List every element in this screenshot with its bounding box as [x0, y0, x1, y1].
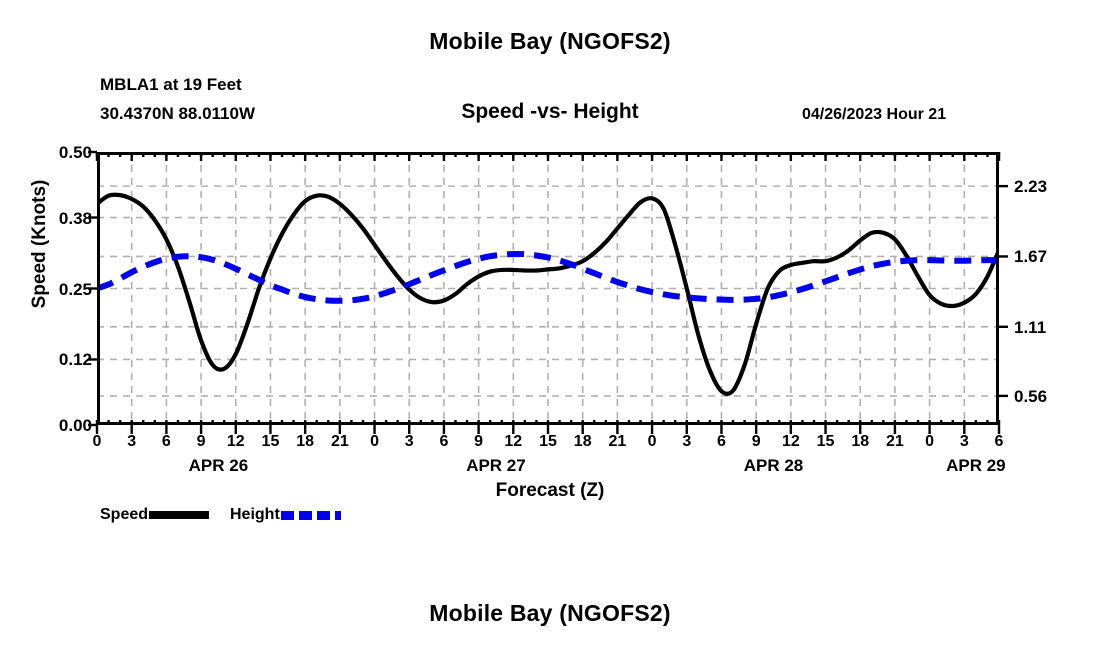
x-tick: 0 [925, 433, 934, 451]
x-tick: 15 [539, 433, 557, 451]
x-tick: 21 [331, 433, 349, 451]
day-label: APR 28 [744, 456, 804, 476]
y-axis-left-label: Speed (Knots) [29, 144, 51, 344]
x-tick: 21 [886, 433, 904, 451]
x-tick: 9 [752, 433, 761, 451]
y-tick-right: 0.56 [1014, 387, 1100, 407]
x-tick: 9 [474, 433, 483, 451]
day-label: APR 26 [189, 456, 249, 476]
x-tick: 0 [93, 433, 102, 451]
x-tick: 0 [370, 433, 379, 451]
x-axis-label: Forecast (Z) [0, 480, 1100, 502]
x-tick: 3 [682, 433, 691, 451]
page-title: Mobile Bay (NGOFS2) [0, 28, 1100, 55]
model-run-label: 04/26/2023 Hour 21 [802, 106, 946, 124]
x-tick: 12 [782, 433, 800, 451]
legend-item-speed: Speed [100, 506, 209, 524]
plot-frame [97, 152, 999, 425]
y-tick-right: 2.23 [1014, 177, 1100, 197]
legend-swatch-speed-line [149, 511, 209, 519]
plot-area [97, 152, 999, 425]
y-tick-left: 0.38 [0, 209, 92, 229]
x-tick: 12 [227, 433, 245, 451]
y-tick-left: 0.50 [0, 143, 92, 163]
x-tick: 6 [717, 433, 726, 451]
x-tick: 12 [504, 433, 522, 451]
y-tick-left: 0.25 [0, 280, 92, 300]
x-tick: 21 [608, 433, 626, 451]
x-tick: 18 [851, 433, 869, 451]
legend-item-height: Height [230, 506, 341, 524]
x-tick: 15 [262, 433, 280, 451]
x-tick: 3 [960, 433, 969, 451]
x-tick: 18 [574, 433, 592, 451]
y-tick-right: 1.11 [1014, 318, 1100, 338]
legend-label-height: Height [230, 506, 280, 524]
chart-page: Mobile Bay (NGOFS2) MBLA1 at 19 Feet 30.… [0, 0, 1100, 650]
x-tick: 6 [439, 433, 448, 451]
x-tick: 9 [197, 433, 206, 451]
day-label: APR 29 [946, 456, 1006, 476]
x-tick: 6 [995, 433, 1004, 451]
legend-label-speed: Speed [100, 506, 148, 524]
y-tick-left: 0.00 [0, 416, 92, 436]
x-tick: 15 [817, 433, 835, 451]
legend-swatch-height-line [281, 511, 341, 520]
y-tick-left: 0.12 [0, 350, 92, 370]
x-tick: 18 [296, 433, 314, 451]
x-tick: 3 [405, 433, 414, 451]
footer-title: Mobile Bay (NGOFS2) [0, 600, 1100, 627]
station-label: MBLA1 at 19 Feet [100, 75, 242, 95]
x-tick: 6 [162, 433, 171, 451]
x-tick: 3 [127, 433, 136, 451]
x-tick: 0 [648, 433, 657, 451]
day-label: APR 27 [466, 456, 526, 476]
y-tick-right: 1.67 [1014, 247, 1100, 267]
